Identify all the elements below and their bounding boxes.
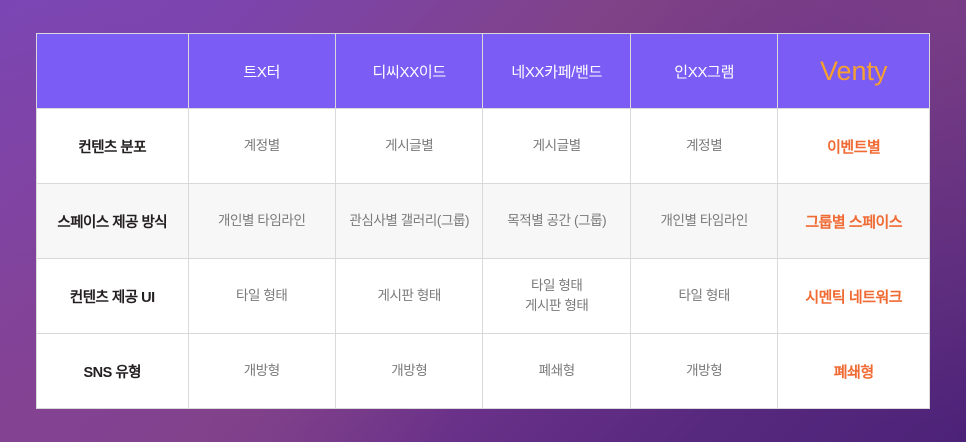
cell-twitter-content-distribution: 계정별 <box>188 109 335 184</box>
cell-twitter-space-provision: 개인별 타임라인 <box>188 184 335 259</box>
platform-comparison-table: 트X터 디씨XX이드 네XX카페/밴드 인XX그램 Venty 컨텐츠 분포 계… <box>36 33 930 409</box>
table-row: 컨텐츠 제공 UI 타일 형태 게시판 형태 타일 형태 게시판 형태 타일 형… <box>37 259 930 334</box>
header-cell-dcinside: 디씨XX이드 <box>335 34 482 109</box>
cell-venty-sns-type: 폐쇄형 <box>778 334 930 409</box>
cell-dcinside-sns-type: 개방형 <box>335 334 482 409</box>
cell-dcinside-content-ui: 게시판 형태 <box>335 259 482 334</box>
row-label-content-distribution: 컨텐츠 분포 <box>37 109 189 184</box>
cell-dcinside-content-distribution: 게시글별 <box>335 109 482 184</box>
cell-venty-content-ui: 시멘틱 네트워크 <box>778 259 930 334</box>
cell-instagram-content-ui: 타일 형태 <box>630 259 777 334</box>
cell-instagram-sns-type: 개방형 <box>630 334 777 409</box>
header-cell-instagram: 인XX그램 <box>630 34 777 109</box>
cell-instagram-content-distribution: 계정별 <box>630 109 777 184</box>
row-label-space-provision: 스페이스 제공 방식 <box>37 184 189 259</box>
cell-venty-space-provision: 그룹별 스페이스 <box>778 184 930 259</box>
cell-venty-content-distribution: 이벤트별 <box>778 109 930 184</box>
table-row: SNS 유형 개방형 개방형 폐쇄형 개방형 폐쇄형 <box>37 334 930 409</box>
cell-dcinside-space-provision: 관심사별 갤러리(그룹) <box>335 184 482 259</box>
cell-navercafe-space-provision: 목적별 공간 (그룹) <box>483 184 630 259</box>
cell-twitter-sns-type: 개방형 <box>188 334 335 409</box>
row-label-sns-type: SNS 유형 <box>37 334 189 409</box>
table-header-row: 트X터 디씨XX이드 네XX카페/밴드 인XX그램 Venty <box>37 34 930 109</box>
cell-navercafe-content-ui: 타일 형태 게시판 형태 <box>483 259 630 334</box>
header-cell-twitter: 트X터 <box>188 34 335 109</box>
header-cell-blank <box>37 34 189 109</box>
table-body: 컨텐츠 분포 계정별 게시글별 게시글별 계정별 이벤트별 스페이스 제공 방식… <box>37 109 930 409</box>
cell-navercafe-content-distribution: 게시글별 <box>483 109 630 184</box>
header-cell-venty: Venty <box>778 34 930 109</box>
table-row: 스페이스 제공 방식 개인별 타임라인 관심사별 갤러리(그룹) 목적별 공간 … <box>37 184 930 259</box>
table-row: 컨텐츠 분포 계정별 게시글별 게시글별 계정별 이벤트별 <box>37 109 930 184</box>
table-header: 트X터 디씨XX이드 네XX카페/밴드 인XX그램 Venty <box>37 34 930 109</box>
cell-navercafe-content-ui-line1: 타일 형태 <box>483 276 629 296</box>
cell-navercafe-content-ui-line2: 게시판 형태 <box>483 296 629 316</box>
row-label-content-ui: 컨텐츠 제공 UI <box>37 259 189 334</box>
header-cell-navercafe: 네XX카페/밴드 <box>483 34 630 109</box>
cell-navercafe-sns-type: 폐쇄형 <box>483 334 630 409</box>
cell-instagram-space-provision: 개인별 타임라인 <box>630 184 777 259</box>
cell-twitter-content-ui: 타일 형태 <box>188 259 335 334</box>
slide-canvas: 트X터 디씨XX이드 네XX카페/밴드 인XX그램 Venty 컨텐츠 분포 계… <box>0 0 966 442</box>
